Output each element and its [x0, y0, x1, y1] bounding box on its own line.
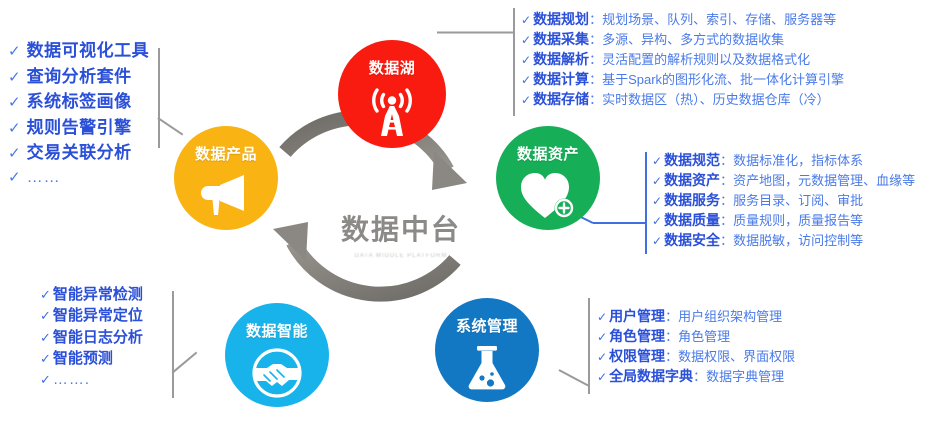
list-item: ✓数据可视化工具: [8, 38, 149, 64]
item-term: 全局数据字典: [609, 367, 693, 387]
list-item: ✓数据规划：规划场景、队列、索引、存储、服务器等: [521, 10, 844, 30]
connector-leader-bottom-right: [559, 370, 589, 387]
list-item: ✓数据采集：多源、异构、多方式的数据收集: [521, 30, 844, 50]
connector-line-top-left: [158, 48, 160, 148]
item-separator: ：: [589, 71, 602, 89]
check-icon: ✓: [597, 329, 607, 346]
item-term: 数据规划: [533, 10, 589, 30]
item-description: 角色管理: [678, 328, 730, 346]
check-icon: ✓: [652, 233, 662, 250]
list-item: ✓数据安全：数据脱敏，访问控制等: [652, 231, 915, 251]
item-separator: ：: [720, 152, 733, 170]
check-icon: ✓: [521, 72, 531, 89]
connector-line-top-right: [513, 8, 515, 116]
block-bottom-right: ✓用户管理：用户组织架构管理✓角色管理：角色管理✓权限管理：数据权限、界面权限✓…: [597, 307, 795, 387]
list-item: ✓数据存储：实时数据区（热）、历史数据仓库（冷）: [521, 90, 844, 110]
item-label: 智能异常检测: [53, 284, 143, 305]
item-separator: ：: [720, 192, 733, 210]
item-description: 质量规则，质量报告等: [733, 212, 863, 230]
item-description: 用户组织架构管理: [678, 308, 782, 326]
block-bottom-left: ✓智能异常检测✓智能异常定位✓智能日志分析✓智能预测✓…….: [40, 284, 143, 390]
item-separator: ：: [693, 368, 706, 386]
item-separator: ：: [720, 212, 733, 230]
item-description: 基于Spark的图形化流、批一体化计算引擎: [602, 71, 844, 89]
list-item: ✓数据计算：基于Spark的图形化流、批一体化计算引擎: [521, 70, 844, 90]
item-term: 数据服务: [664, 191, 720, 211]
item-term: 数据解析: [533, 50, 589, 70]
item-description: 数据标准化，指标体系: [733, 152, 863, 170]
handshake-icon: [225, 339, 329, 407]
item-term: 数据计算: [533, 70, 589, 90]
list-item: ✓智能异常定位: [40, 305, 143, 326]
item-separator: ：: [720, 232, 733, 250]
item-term: 数据资产: [664, 171, 720, 191]
check-icon: ✓: [652, 153, 662, 170]
item-term: 数据采集: [533, 30, 589, 50]
list-item: ✓角色管理：角色管理: [597, 327, 795, 347]
node-data-lake-label: 数据湖: [369, 57, 416, 78]
check-icon: ✓: [8, 67, 21, 90]
item-label: 智能日志分析: [53, 327, 143, 348]
center-title: 数据中台: [306, 208, 496, 248]
item-description: 数据字典管理: [706, 368, 784, 386]
list-item: ✓智能异常检测: [40, 284, 143, 305]
list-item: ✓规则告警引擎: [8, 115, 149, 141]
block-mid-right: ✓数据规范：数据标准化，指标体系✓数据资产：资产地图，元数据管理、血缘等✓数据服…: [652, 151, 915, 250]
item-description: 资产地图，元数据管理、血缘等: [733, 172, 915, 190]
list-item: ✓数据资产：资产地图，元数据管理、血缘等: [652, 171, 915, 191]
item-ellipsis: …….: [53, 369, 90, 390]
list-item: ✓全局数据字典：数据字典管理: [597, 367, 795, 387]
item-label: 智能预测: [53, 348, 113, 369]
item-term: 用户管理: [609, 307, 665, 327]
check-icon: ✓: [8, 167, 21, 190]
connector-line-mid-right: [645, 152, 647, 254]
list-item: ✓……: [8, 166, 149, 190]
list-item: ✓交易关联分析: [8, 140, 149, 166]
node-data-product[interactable]: 数据产品: [174, 126, 278, 230]
node-data-asset[interactable]: 数据资产: [496, 126, 600, 230]
check-icon: ✓: [521, 92, 531, 109]
item-label: 数据可视化工具: [27, 38, 150, 64]
list-item: ✓权限管理：数据权限、界面权限: [597, 347, 795, 367]
item-separator: ：: [720, 172, 733, 190]
check-icon: ✓: [40, 371, 51, 389]
check-icon: ✓: [8, 92, 21, 115]
check-icon: ✓: [652, 173, 662, 190]
list-item: ✓…….: [40, 369, 143, 390]
item-description: 多源、异构、多方式的数据收集: [602, 31, 784, 49]
node-system-management-label: 系统管理: [456, 315, 518, 336]
item-label: 智能异常定位: [53, 305, 143, 326]
list-item: ✓智能预测: [40, 348, 143, 369]
list-item: ✓数据服务：服务目录、订阅、审批: [652, 191, 915, 211]
check-icon: ✓: [597, 369, 607, 386]
item-description: 规划场景、队列、索引、存储、服务器等: [602, 11, 836, 29]
list-item: ✓系统标签画像: [8, 89, 149, 115]
node-data-intelligence-label: 数据智能: [246, 320, 308, 341]
item-separator: ：: [589, 91, 602, 109]
item-term: 数据存储: [533, 90, 589, 110]
connector-line-bottom-right: [588, 298, 590, 394]
flask-icon: [435, 334, 539, 402]
list-item: ✓用户管理：用户组织架构管理: [597, 307, 795, 327]
connector-leader-mid-right: [593, 222, 645, 224]
item-label: 规则告警引擎: [27, 115, 132, 141]
list-item: ✓查询分析套件: [8, 64, 149, 90]
item-description: 灵活配置的解析规则以及数据格式化: [602, 51, 810, 69]
diagram-canvas: 数据中台 DATA MIDDLE PLATFORM 数据湖 数据资产: [0, 0, 931, 428]
check-icon: ✓: [40, 286, 51, 304]
item-separator: ：: [665, 328, 678, 346]
item-label: 查询分析套件: [27, 64, 132, 90]
item-term: 数据质量: [664, 211, 720, 231]
check-icon: ✓: [652, 193, 662, 210]
check-icon: ✓: [521, 52, 531, 69]
connector-leader-bottom-left: [172, 352, 197, 374]
list-item: ✓数据质量：质量规则，质量报告等: [652, 211, 915, 231]
check-icon: ✓: [521, 32, 531, 49]
node-data-intelligence[interactable]: 数据智能: [225, 303, 329, 407]
connector-leader-top-left: [158, 117, 184, 135]
item-description: 实时数据区（热）、历史数据仓库（冷）: [602, 91, 830, 109]
check-icon: ✓: [597, 309, 607, 326]
broadcast-tower-icon: [338, 76, 446, 148]
block-top-left: ✓数据可视化工具✓查询分析套件✓系统标签画像✓规则告警引擎✓交易关联分析✓……: [8, 38, 149, 190]
item-separator: ：: [589, 51, 602, 69]
item-separator: ：: [665, 308, 678, 326]
check-icon: ✓: [652, 213, 662, 230]
item-ellipsis: ……: [27, 166, 61, 190]
check-icon: ✓: [40, 329, 51, 347]
item-description: 数据权限、界面权限: [678, 348, 795, 366]
list-item: ✓数据规范：数据标准化，指标体系: [652, 151, 915, 171]
item-separator: ：: [589, 11, 602, 29]
list-item: ✓数据解析：灵活配置的解析规则以及数据格式化: [521, 50, 844, 70]
check-icon: ✓: [40, 350, 51, 368]
check-icon: ✓: [8, 143, 21, 166]
node-data-product-label: 数据产品: [195, 143, 257, 164]
connector-line-bottom-left: [172, 291, 174, 398]
item-term: 权限管理: [609, 347, 665, 367]
item-label: 交易关联分析: [27, 140, 132, 166]
center-subtitle: DATA MIDDLE PLATFORM: [306, 253, 496, 259]
megaphone-icon: [174, 162, 278, 230]
item-term: 角色管理: [609, 327, 665, 347]
item-term: 数据规范: [664, 151, 720, 171]
block-top-right: ✓数据规划：规划场景、队列、索引、存储、服务器等✓数据采集：多源、异构、多方式的…: [521, 10, 844, 109]
connector-leader-top-right: [437, 32, 513, 34]
node-data-asset-label: 数据资产: [517, 143, 579, 164]
list-item: ✓智能日志分析: [40, 327, 143, 348]
item-separator: ：: [665, 348, 678, 366]
check-icon: ✓: [597, 349, 607, 366]
item-label: 系统标签画像: [27, 89, 132, 115]
item-description: 数据脱敏，访问控制等: [733, 232, 863, 250]
check-icon: ✓: [521, 12, 531, 29]
item-term: 数据安全: [664, 231, 720, 251]
item-separator: ：: [589, 31, 602, 49]
node-data-lake[interactable]: 数据湖: [338, 40, 446, 148]
check-icon: ✓: [8, 118, 21, 141]
node-system-management[interactable]: 系统管理: [435, 298, 539, 402]
heart-plus-icon: [496, 162, 600, 230]
item-description: 服务目录、订阅、审批: [733, 192, 863, 210]
check-icon: ✓: [40, 307, 51, 325]
center-label: 数据中台 DATA MIDDLE PLATFORM: [306, 208, 496, 259]
check-icon: ✓: [8, 41, 21, 64]
